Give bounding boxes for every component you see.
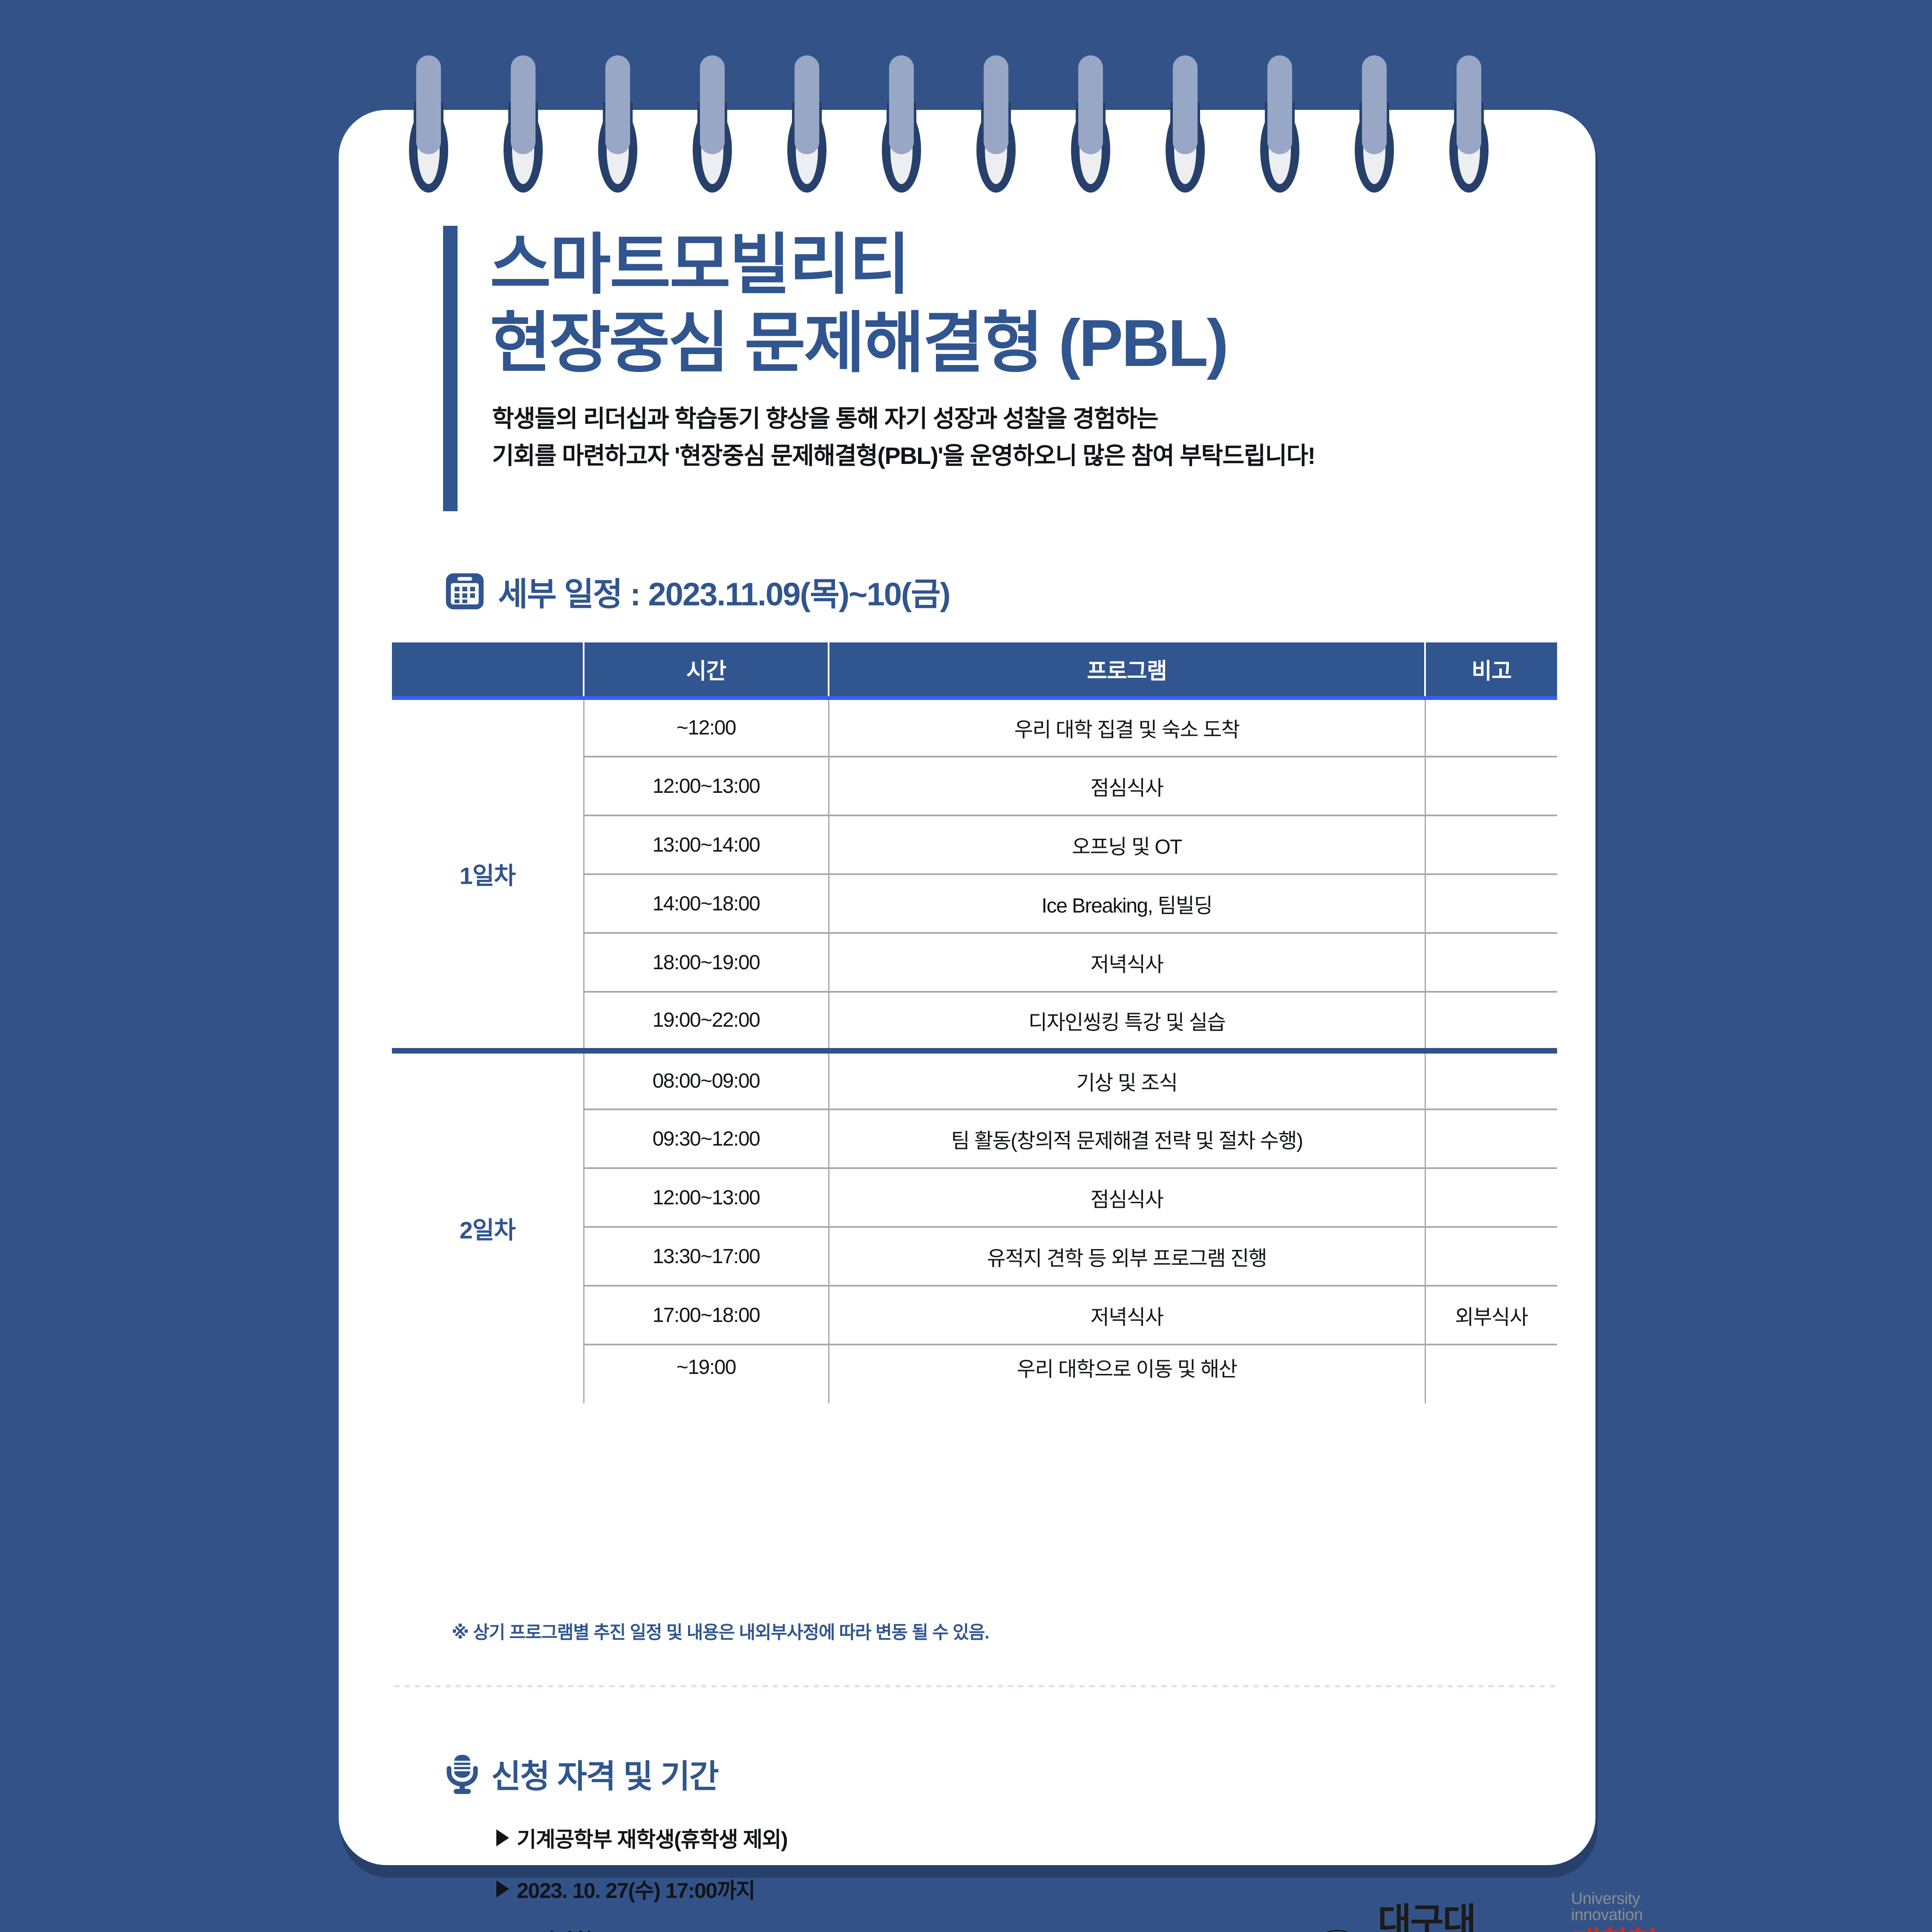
day-label-cell: 2일차 xyxy=(392,1051,584,1403)
cell-note xyxy=(1425,1051,1557,1109)
column-header-program: 프로그램 xyxy=(829,642,1425,698)
section-divider xyxy=(392,1684,1559,1688)
column-header-day xyxy=(392,642,584,698)
cell-program: 유적지 견학 등 외부 프로그램 진행 xyxy=(829,1227,1425,1286)
cell-time: 18:00~19:00 xyxy=(584,933,829,992)
subtitle-line-2: 기회를 마련하고자 '현장중심 문제해결형(PBL)'을 운영하오니 많은 참여… xyxy=(492,438,1534,475)
apply-heading-text: 신청 자격 및 기간 xyxy=(491,1750,718,1797)
page-title: 스마트모빌리티 현장중심 문제해결형 (PBL) xyxy=(490,226,1534,383)
cell-program: 점심식사 xyxy=(829,1168,1425,1227)
cell-note xyxy=(1425,1168,1557,1227)
cell-time: ~12:00 xyxy=(584,698,829,757)
cell-time: 13:30~17:00 xyxy=(584,1227,829,1286)
cell-time: 14:00~18:00 xyxy=(584,874,829,933)
schedule-table-wrap: 시간 프로그램 비고 1일차~12:00우리 대학 집결 및 숙소 도착12:0… xyxy=(392,642,1557,1403)
headline-accent-bar xyxy=(443,226,458,511)
headline-block: 스마트모빌리티 현장중심 문제해결형 (PBL) 학생들의 리더십과 학습동기 … xyxy=(443,226,1534,475)
logo-row: DAEGU UNIVERSITY 대구대학교 DAEGU UNIVERSITY xyxy=(1306,1891,1676,1932)
microphone-icon xyxy=(445,1752,479,1795)
cell-note xyxy=(1425,874,1557,933)
table-row: 2일차08:00~09:00기상 및 조식 xyxy=(392,1051,1557,1109)
triangle-bullet-icon xyxy=(496,1829,509,1846)
cell-time: 17:00~18:00 xyxy=(584,1286,829,1345)
schedule-table-body: 1일차~12:00우리 대학 집결 및 숙소 도착12:00~13:00점심식사… xyxy=(392,698,1557,1403)
cell-note xyxy=(1425,757,1557,815)
cell-note xyxy=(1425,815,1557,874)
schedule-table-head: 시간 프로그램 비고 xyxy=(392,642,1557,698)
cell-program: 팀 활동(창의적 문제해결 전략 및 절차 수행) xyxy=(829,1109,1425,1168)
daegu-university-name-ko: 대구대학교 xyxy=(1378,1903,1506,1932)
table-header-row: 시간 프로그램 비고 xyxy=(392,642,1557,698)
schedule-heading: 세부 일정 : 2023.11.09(목)~10(금) xyxy=(444,568,950,615)
triangle-bullet-icon xyxy=(496,1880,509,1897)
title-line-2: 현장중심 문제해결형 (PBL) xyxy=(490,304,1534,383)
column-header-time: 시간 xyxy=(584,642,829,698)
list-item: 기계공학부 재학생(휴학생 제외) xyxy=(496,1823,787,1853)
schedule-footnote: ※ 상기 프로그램별 추진 일정 및 내용은 내외부사정에 따라 변동 될 수 … xyxy=(452,1618,989,1644)
cell-note xyxy=(1425,933,1557,992)
cell-program: 디자인씽킹 특강 및 실습 xyxy=(829,992,1425,1051)
card-content: 스마트모빌리티 현장중심 문제해결형 (PBL) 학생들의 리더십과 학습동기 … xyxy=(339,110,1595,1865)
cell-time: 13:00~14:00 xyxy=(584,815,829,874)
column-header-note: 비고 xyxy=(1425,642,1557,698)
cell-program: 기상 및 조식 xyxy=(829,1051,1425,1109)
daegu-university-logo: DAEGU UNIVERSITY 대구대학교 DAEGU UNIVERSITY xyxy=(1306,1903,1506,1932)
cell-time: 19:00~22:00 xyxy=(584,992,829,1051)
cell-time: 12:00~13:00 xyxy=(584,757,829,815)
apply-items-list: 기계공학부 재학생(휴학생 제외)2023. 10. 27(수) 17:00까지… xyxy=(496,1823,787,1932)
cell-note xyxy=(1425,1109,1557,1168)
university-innovation-name-ko: 대학혁신지원사업 xyxy=(1571,1928,1676,1932)
cell-time: 12:00~13:00 xyxy=(584,1168,829,1227)
cell-note xyxy=(1425,1345,1557,1403)
cell-program: 우리 대학 집결 및 숙소 도착 xyxy=(829,698,1425,757)
university-innovation-logo: University innovation 대학혁신지원사업 xyxy=(1536,1891,1676,1932)
apply-heading: 신청 자격 및 기간 xyxy=(445,1750,718,1797)
table-row: 1일차~12:00우리 대학 집결 및 숙소 도착 xyxy=(392,698,1557,757)
schedule-table: 시간 프로그램 비고 1일차~12:00우리 대학 집결 및 숙소 도착12:0… xyxy=(392,642,1557,1403)
list-item-label: 기계공학부 재학생(휴학생 제외) xyxy=(517,1823,787,1853)
cell-time: 09:30~12:00 xyxy=(584,1109,829,1168)
cell-program: 저녁식사 xyxy=(829,933,1425,992)
daegu-university-seal-icon: DAEGU UNIVERSITY xyxy=(1306,1918,1368,1932)
cell-program: 저녁식사 xyxy=(829,1286,1425,1345)
calendar-icon xyxy=(444,571,485,612)
poster-root: 스마트모빌리티 현장중심 문제해결형 (PBL) 학생들의 리더십과 학습동기 … xyxy=(0,0,1932,1932)
cell-time: ~19:00 xyxy=(584,1345,829,1403)
day-label-cell: 1일차 xyxy=(392,698,584,1051)
list-item-label: 2023. 10. 27(수) 17:00까지 xyxy=(517,1874,755,1904)
cell-program: 점심식사 xyxy=(829,757,1425,815)
list-item: 2023. 10. 27(수) 17:00까지 xyxy=(496,1874,787,1904)
cell-note xyxy=(1425,698,1557,757)
cell-note: 외부식사 xyxy=(1425,1286,1557,1345)
list-item: 문의사항: 053-850-5807 xyxy=(496,1925,787,1932)
schedule-heading-text: 세부 일정 : 2023.11.09(목)~10(금) xyxy=(498,568,950,615)
title-line-1: 스마트모빌리티 xyxy=(490,226,1534,304)
cell-program: 우리 대학으로 이동 및 해산 xyxy=(829,1345,1425,1403)
cell-note xyxy=(1425,992,1557,1051)
subtitle-block: 학생들의 리더십과 학습동기 향상을 통해 자기 성장과 성찰을 경험하는 기회… xyxy=(492,400,1534,475)
cell-note xyxy=(1425,1227,1557,1286)
list-item-label: 문의사항: 053-850-5807 xyxy=(517,1925,730,1932)
cell-time: 08:00~09:00 xyxy=(584,1051,829,1109)
cell-program: Ice Breaking, 팀빌딩 xyxy=(829,874,1425,933)
cell-program: 오프닝 및 OT xyxy=(829,815,1425,874)
subtitle-line-1: 학생들의 리더십과 학습동기 향상을 통해 자기 성장과 성찰을 경험하는 xyxy=(492,400,1534,438)
ui-name-red: 대학혁신 xyxy=(1571,1926,1657,1932)
university-innovation-tagline: University innovation xyxy=(1571,1891,1676,1923)
